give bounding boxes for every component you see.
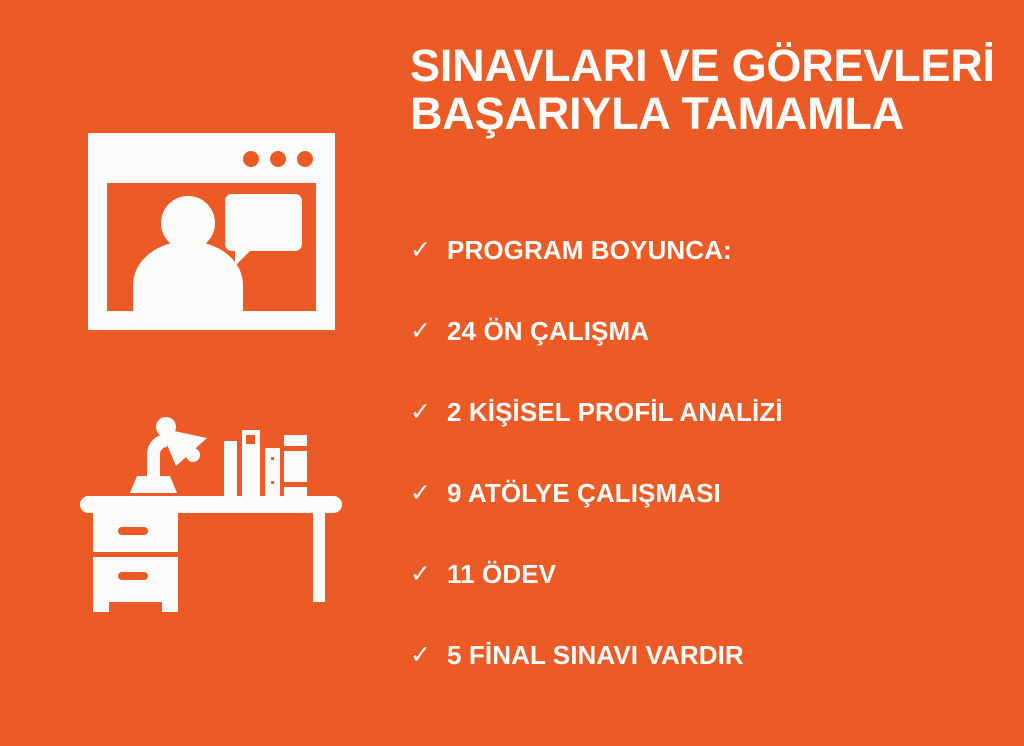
lamp-arm — [147, 434, 167, 478]
drawer-handle-upper — [118, 527, 148, 535]
desk-top — [80, 496, 342, 513]
content-panel: SINAVLARI VE GÖREVLERİ BAŞARIYLA TAMAMLA… — [410, 0, 1024, 746]
feature-list: ✓ PROGRAM BOYUNCA: ✓ 24 ÖN ÇALIŞMA ✓ 2 K… — [410, 210, 1010, 696]
lamp-bulb — [186, 448, 200, 462]
icon-column — [0, 0, 392, 746]
window-dot-3 — [297, 151, 313, 167]
page-title: SINAVLARI VE GÖREVLERİ BAŞARIYLA TAMAMLA — [410, 42, 1010, 138]
list-item-label: 2 KİŞİSEL PROFİL ANALİZİ — [447, 397, 783, 428]
check-icon: ✓ — [410, 481, 447, 506]
list-item: ✓ PROGRAM BOYUNCA: — [410, 210, 1010, 291]
window-dot-1 — [243, 151, 259, 167]
book-2-label — [246, 435, 255, 444]
check-icon: ✓ — [410, 400, 447, 425]
drawer-handle-lower — [118, 572, 148, 580]
list-item: ✓ 5 FİNAL SINAVI VARDIR — [410, 615, 1010, 696]
lamp-base — [130, 476, 177, 493]
list-item-label: 24 ÖN ÇALIŞMA — [447, 316, 649, 347]
list-item: ✓ 11 ÖDEV — [410, 534, 1010, 615]
speech-bubble — [225, 194, 302, 251]
check-icon: ✓ — [410, 238, 447, 263]
list-item-label: PROGRAM BOYUNCA: — [447, 235, 732, 266]
video-call-window-icon — [88, 133, 335, 330]
study-desk-icon — [80, 414, 342, 613]
list-item-label: 9 ATÖLYE ÇALIŞMASI — [447, 478, 721, 509]
list-item: ✓ 9 ATÖLYE ÇALIŞMASI — [410, 453, 1010, 534]
lamp-joint — [156, 417, 176, 437]
check-icon: ✓ — [410, 319, 447, 344]
book-1 — [224, 441, 237, 496]
list-item: ✓ 2 KİŞİSEL PROFİL ANALİZİ — [410, 372, 1010, 453]
window-dot-2 — [270, 151, 286, 167]
list-item-label: 11 ÖDEV — [447, 559, 556, 590]
page-title-line-1: SINAVLARI VE GÖREVLERİ — [410, 42, 1010, 90]
page-title-line-2: BAŞARIYLA TAMAMLA — [410, 90, 1010, 138]
book-3 — [265, 448, 280, 496]
list-item-label: 5 FİNAL SINAVI VARDIR — [447, 640, 744, 671]
list-item: ✓ 24 ÖN ÇALIŞMA — [410, 291, 1010, 372]
check-icon: ✓ — [410, 562, 447, 587]
check-icon: ✓ — [410, 643, 447, 668]
desk-leg — [313, 513, 325, 602]
